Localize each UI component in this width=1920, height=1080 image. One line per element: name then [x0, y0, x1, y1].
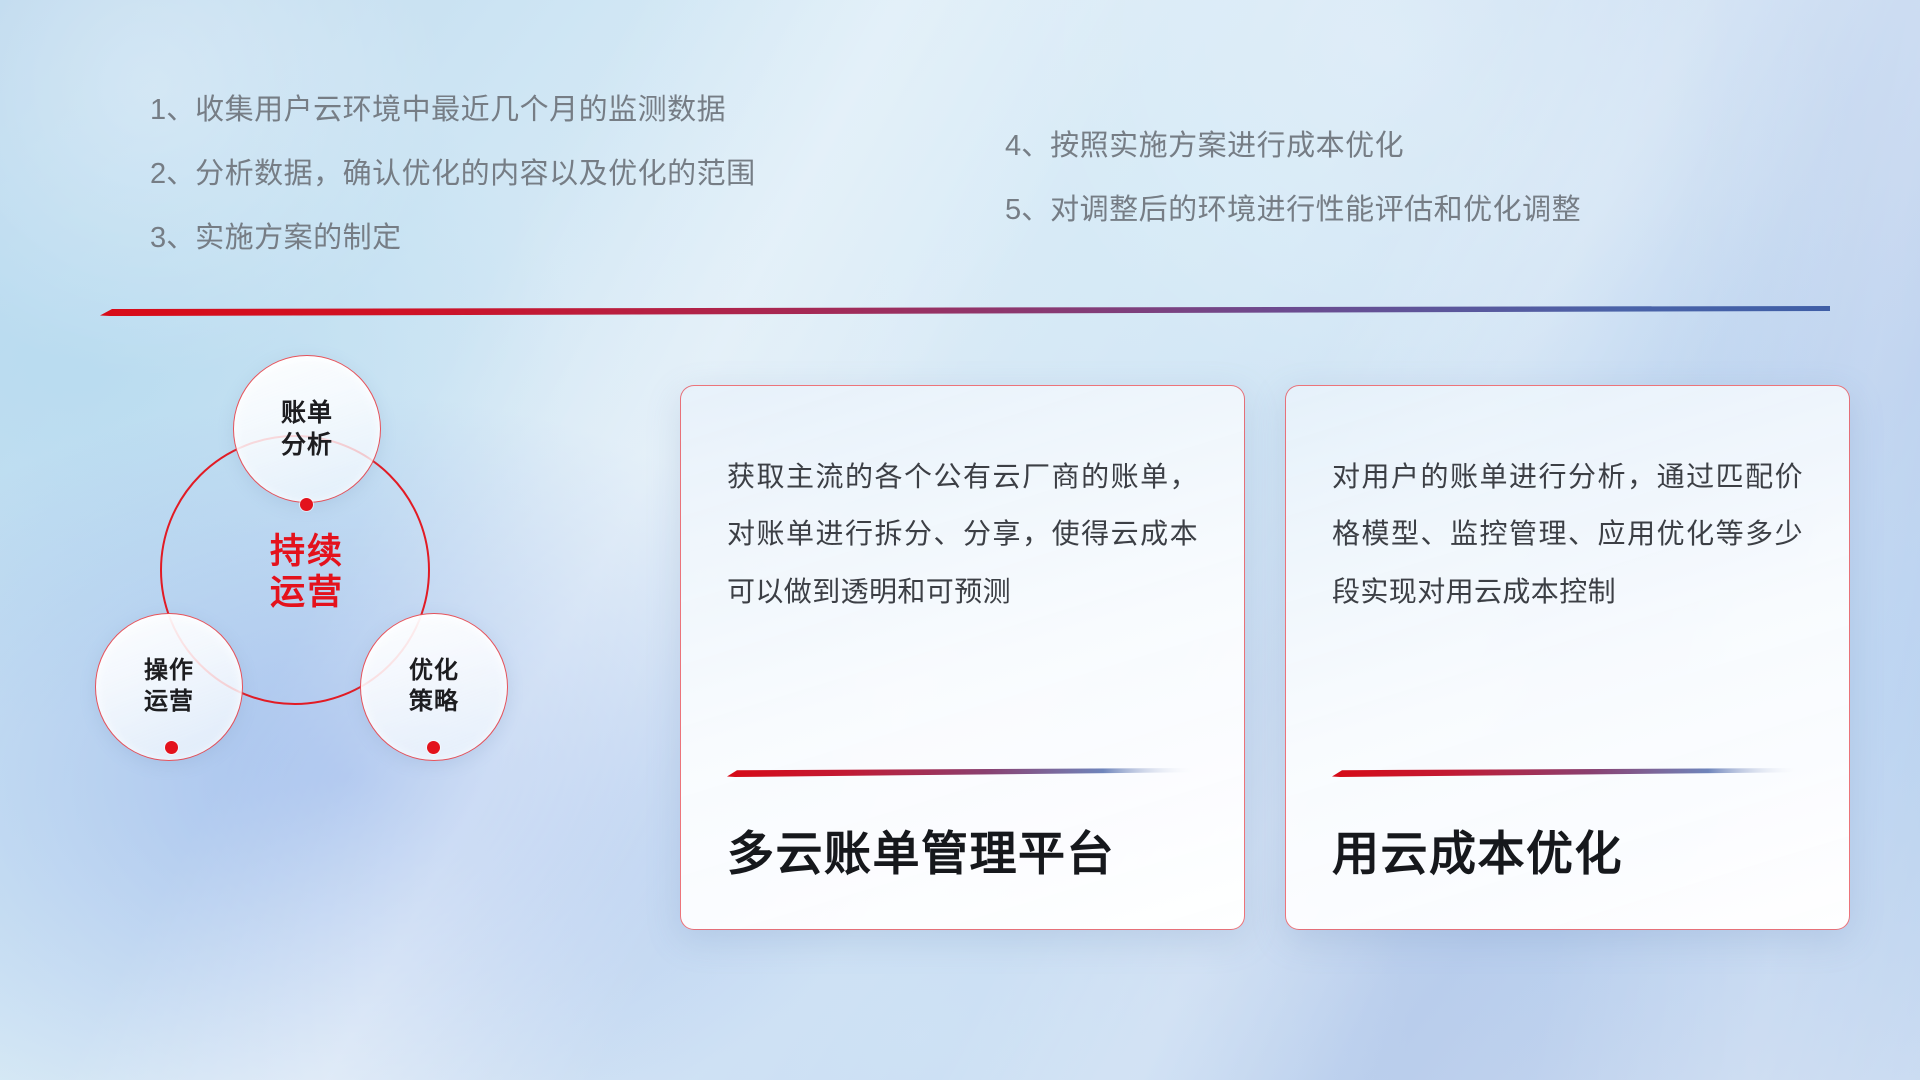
bubble-billing-analysis-label: 账单 分析	[281, 397, 333, 461]
card-cloud-cost-optimization[interactable]: 对用户的账单进行分析，通过匹配价格模型、监控管理、应用优化等多少段实现对用云成本…	[1285, 385, 1850, 930]
card-1-title: 多云账单管理平台	[727, 830, 1115, 877]
card-2-divider	[1332, 768, 1802, 777]
divider-shape	[100, 306, 1830, 316]
step-item-3: 3、实施方案的制定	[150, 224, 756, 253]
bubble-optimization-strategy-line1: 优化	[409, 657, 459, 684]
step-text-2: 分析数据，确认优化的内容以及优化的范围	[195, 158, 756, 190]
node-dot-bottom-left-icon	[165, 741, 178, 754]
bubble-operations-label: 操作 运营	[144, 656, 194, 717]
step-text-4: 按照实施方案进行成本优化	[1050, 130, 1404, 162]
step-number-3: 3、	[150, 222, 195, 254]
bubble-optimization-strategy[interactable]: 优化 策略	[360, 613, 508, 761]
section-divider	[100, 306, 1830, 316]
bubble-optimization-strategy-label: 优化 策略	[409, 656, 459, 717]
step-text-1: 收集用户云环境中最近几个月的监测数据	[195, 94, 726, 126]
card-1-divider	[727, 768, 1197, 777]
step-text-3: 实施方案的制定	[195, 222, 402, 254]
bubble-operations-line2: 运营	[144, 688, 194, 715]
card-2-divider-shape	[1332, 768, 1802, 777]
slide-canvas: 1、收集用户云环境中最近几个月的监测数据 2、分析数据，确认优化的内容以及优化的…	[0, 0, 1920, 1080]
node-dot-bottom-right-icon	[427, 741, 440, 754]
step-number-2: 2、	[150, 158, 195, 190]
steps-left-column: 1、收集用户云环境中最近几个月的监测数据 2、分析数据，确认优化的内容以及优化的…	[150, 96, 756, 288]
card-1-divider-shape	[727, 768, 1197, 777]
bubble-operations-line1: 操作	[144, 657, 194, 684]
bubble-operations[interactable]: 操作 运营	[95, 613, 243, 761]
step-number-5: 5、	[1005, 194, 1050, 226]
card-2-title: 用云成本优化	[1332, 830, 1623, 877]
center-ring-label: 持续 运营	[270, 531, 344, 614]
step-item-5: 5、对调整后的环境进行性能评估和优化调整	[1005, 196, 1581, 225]
step-number-4: 4、	[1005, 130, 1050, 162]
bubble-optimization-strategy-line2: 策略	[409, 688, 459, 715]
card-multi-cloud-billing-platform[interactable]: 获取主流的各个公有云厂商的账单，对账单进行拆分、分享，使得云成本可以做到透明和可…	[680, 385, 1245, 930]
step-item-1: 1、收集用户云环境中最近几个月的监测数据	[150, 96, 756, 125]
node-dot-top-icon	[300, 498, 313, 511]
steps-right-column: 4、按照实施方案进行成本优化 5、对调整后的环境进行性能评估和优化调整	[1005, 132, 1581, 260]
card-1-body: 获取主流的各个公有云厂商的账单，对账单进行拆分、分享，使得云成本可以做到透明和可…	[727, 448, 1198, 620]
bubble-billing-analysis[interactable]: 账单 分析	[233, 355, 381, 503]
step-item-4: 4、按照实施方案进行成本优化	[1005, 132, 1581, 161]
step-number-1: 1、	[150, 94, 195, 126]
center-ring-label-line1: 持续	[270, 532, 344, 571]
step-item-2: 2、分析数据，确认优化的内容以及优化的范围	[150, 160, 756, 189]
bubble-billing-analysis-line2: 分析	[281, 431, 333, 459]
continuous-operations-diagram: 持续 运营 账单 分析 操作 运营 优化 策略	[95, 355, 545, 805]
bubble-billing-analysis-line1: 账单	[281, 399, 333, 427]
card-2-body: 对用户的账单进行分析，通过匹配价格模型、监控管理、应用优化等多少段实现对用云成本…	[1332, 448, 1803, 620]
center-ring-label-line2: 运营	[270, 573, 344, 612]
step-text-5: 对调整后的环境进行性能评估和优化调整	[1050, 194, 1581, 226]
